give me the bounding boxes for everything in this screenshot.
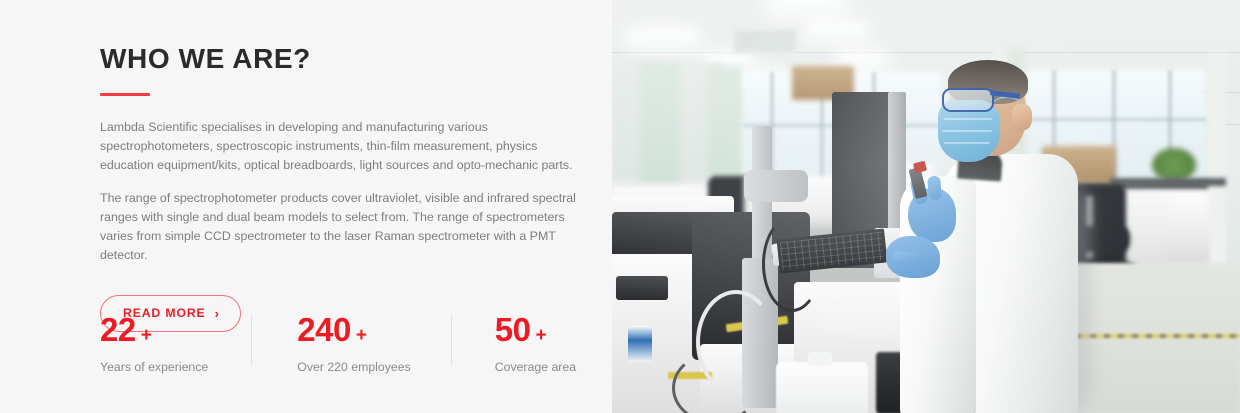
stat-label: Coverage area (495, 360, 576, 374)
monitor-arm-joint (744, 170, 808, 202)
left-content-panel: WHO WE ARE? Lambda Scientific specialise… (0, 0, 612, 413)
stat-number: 22 (100, 313, 136, 346)
window-mullion (1016, 118, 1206, 121)
stat-value-row: 22 + (100, 313, 208, 346)
ceiling-light (840, 56, 884, 66)
reagent-bottle (776, 362, 868, 413)
statistics-row: 22 + Years of experience 240 + Over 220 … (100, 313, 576, 374)
green-wall-column (640, 62, 680, 182)
wall-equipment-rack (1168, 196, 1208, 262)
instrument-label (628, 326, 652, 362)
mask-pleat (942, 130, 992, 132)
stat-plus-sign: + (356, 326, 367, 345)
stat-years-of-experience: 22 + Years of experience (100, 313, 208, 374)
potted-plant (1152, 148, 1196, 182)
bench-worktop (1110, 178, 1226, 186)
ceiling-light (808, 26, 864, 37)
title-underline-rule (100, 93, 150, 96)
stat-label: Years of experience (100, 360, 208, 374)
laboratory-photo (612, 0, 1240, 413)
instrument-cable (762, 216, 822, 312)
ceiling-light (770, 0, 842, 12)
intro-paragraph-2: The range of spectrophotometer products … (100, 189, 578, 265)
stat-number: 50 (495, 313, 531, 346)
stat-number: 240 (297, 313, 351, 346)
stat-label: Over 220 employees (297, 360, 410, 374)
stat-value-row: 50 + (495, 313, 576, 346)
intro-paragraph-1: Lambda Scientific specialises in develop… (100, 118, 578, 175)
stat-value-row: 240 + (297, 313, 410, 346)
reagent-bottle-cap (808, 352, 832, 366)
stat-employees: 240 + Over 220 employees (297, 313, 410, 374)
ceiling-light (630, 32, 696, 46)
stat-coverage-area: 50 + Coverage area (495, 313, 576, 374)
mask-pleat (944, 142, 990, 144)
mask-pleat (944, 118, 992, 120)
mask-ear-loop (990, 96, 1024, 122)
stat-plus-sign: + (535, 326, 546, 345)
green-wall-column (708, 66, 742, 178)
ceiling-seam (612, 52, 1240, 53)
stat-divider (251, 315, 252, 366)
stat-plus-sign: + (141, 326, 152, 345)
who-we-are-section: WHO WE ARE? Lambda Scientific specialise… (0, 0, 1240, 413)
ceiling-vent (732, 28, 798, 54)
safety-goggles-lens (942, 88, 994, 112)
analyzer-slot (616, 276, 668, 300)
content-block: WHO WE ARE? Lambda Scientific specialise… (100, 44, 580, 332)
stat-divider (451, 315, 452, 366)
page-title: WHO WE ARE? (100, 44, 580, 75)
gloved-finger (927, 176, 942, 201)
